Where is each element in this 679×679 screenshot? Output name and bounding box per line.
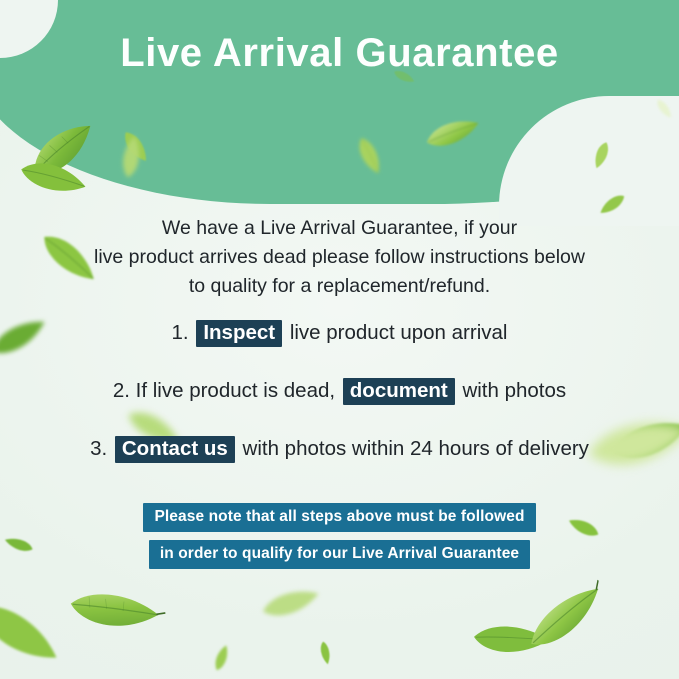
step-text-after: with photos within 24 hours of delivery [243, 437, 589, 460]
intro-paragraph: We have a Live Arrival Guarantee, if you… [0, 214, 679, 301]
step-item-1: 1. Inspect live product upon arrival [0, 320, 679, 347]
steps-list: 1. Inspect live product upon arrival 2. … [0, 320, 679, 463]
step-highlight-inspect: Inspect [196, 320, 282, 347]
step-text-after: with photos [462, 379, 566, 402]
note-banners: Please note that all steps above must be… [0, 503, 679, 569]
intro-line-1: We have a Live Arrival Guarantee, if you… [0, 214, 679, 243]
intro-line-3: to quality for a replacement/refund. [0, 272, 679, 301]
step-highlight-document: document [343, 378, 455, 405]
step-number: 1. [172, 321, 189, 344]
leaf-decoration [258, 583, 323, 624]
leaf-decoration [208, 642, 235, 674]
page-title: Live Arrival Guarantee [0, 31, 679, 76]
leaf-decoration [318, 640, 333, 666]
leaf-decoration [62, 576, 170, 651]
step-number: 3. [90, 437, 107, 460]
note-banner-line-1: Please note that all steps above must be… [143, 503, 535, 532]
poster-canvas: Live Arrival Guarantee [0, 0, 679, 679]
intro-line-2: live product arrives dead please follow … [0, 243, 679, 272]
step-item-3: 3. Contact us with photos within 24 hour… [0, 436, 679, 463]
note-banner-line-2: in order to qualify for our Live Arrival… [149, 540, 530, 569]
leaf-decoration [515, 578, 618, 660]
step-text-before: If live product is dead, [136, 379, 335, 402]
step-item-2: 2. If live product is dead, document wit… [0, 378, 679, 405]
leaf-decoration [0, 584, 68, 679]
step-number: 2. [113, 379, 130, 402]
step-text-after: live product upon arrival [290, 321, 508, 344]
header-band-right-extension [559, 0, 679, 190]
step-highlight-contact-us: Contact us [115, 436, 235, 463]
